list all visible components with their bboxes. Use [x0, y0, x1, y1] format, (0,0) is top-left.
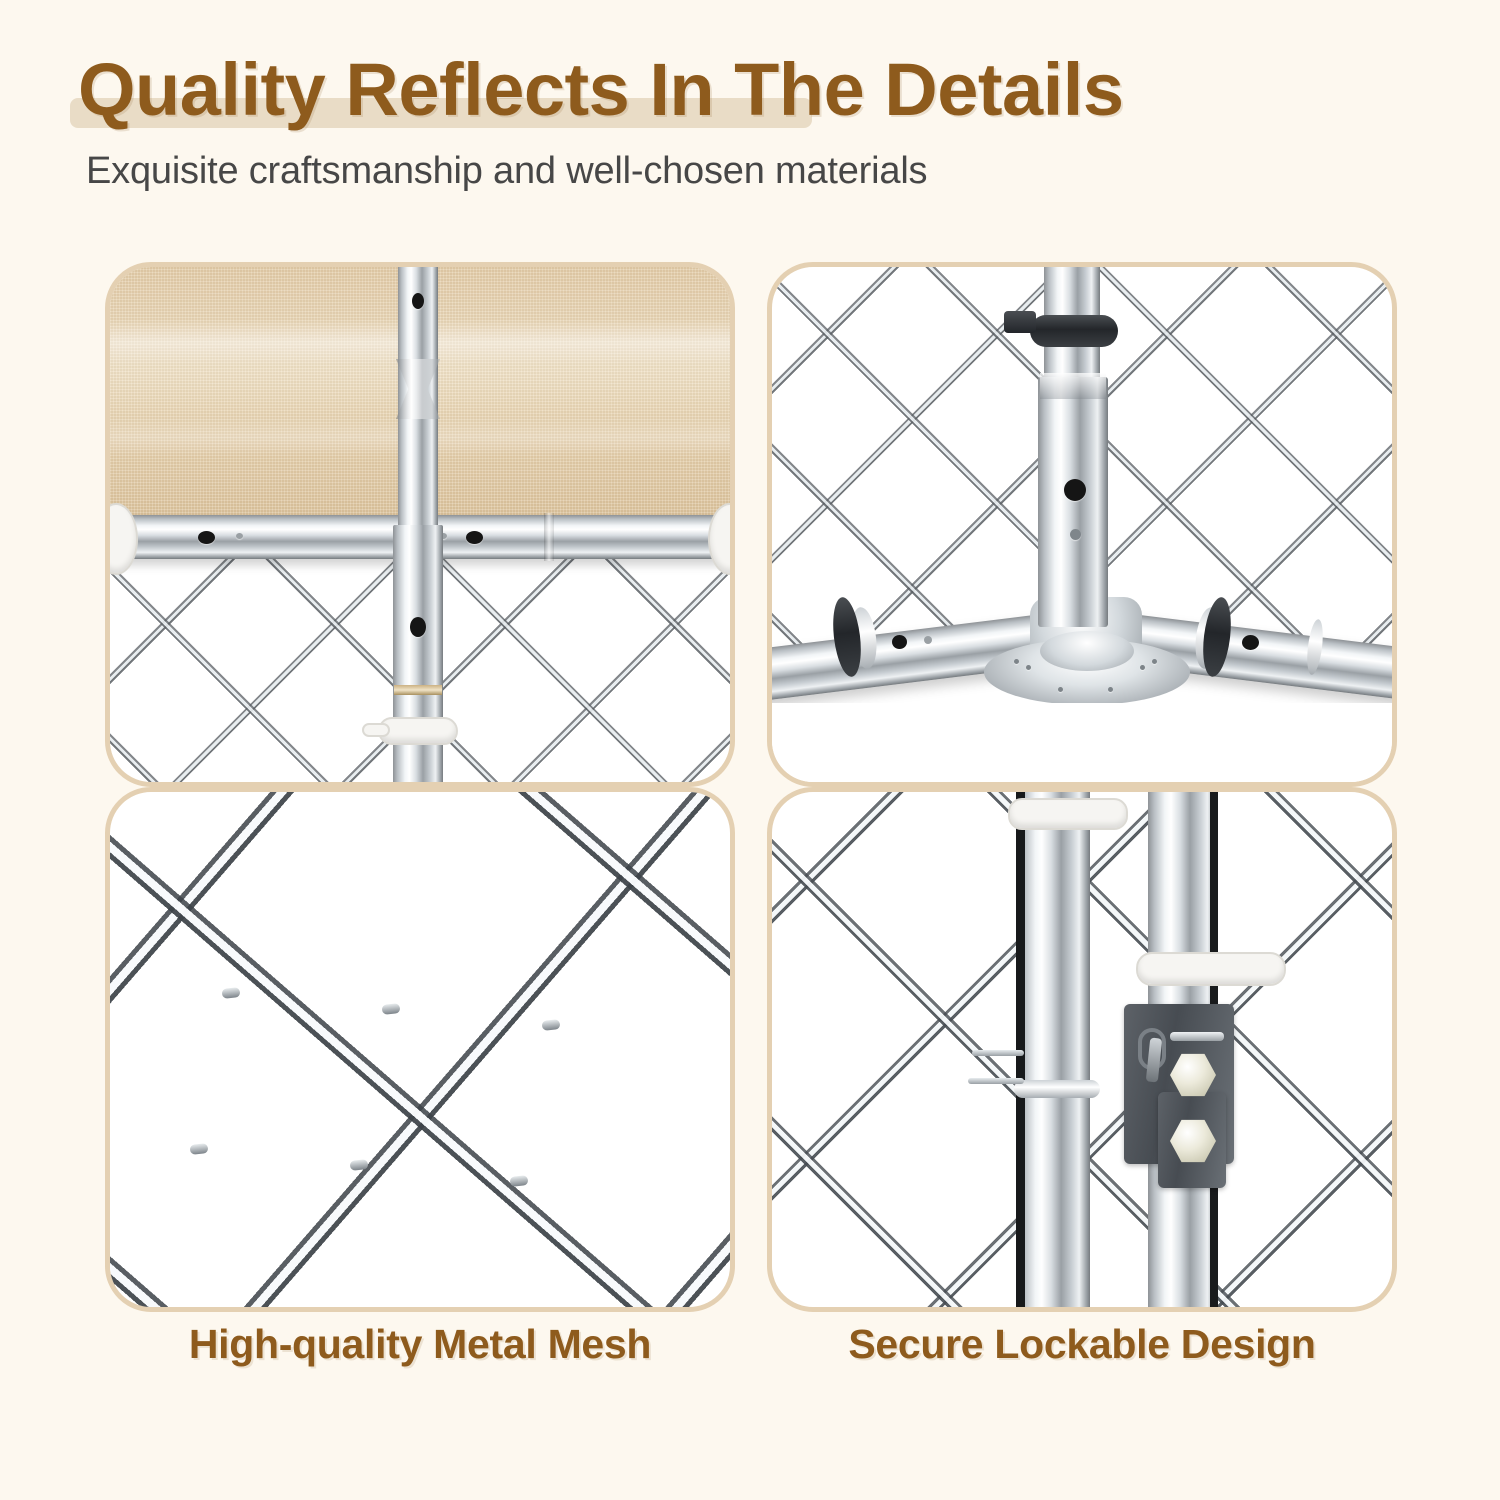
feature-photo-reinforced-metal-base — [767, 262, 1397, 787]
feature-photo-sturdy-structure — [105, 262, 735, 787]
pole-swage — [1040, 373, 1106, 399]
feature-grid: Sturdy Structure — [105, 262, 1397, 1462]
rail-seam — [544, 513, 554, 561]
left-pole-band — [1014, 1080, 1100, 1098]
post-clip-tab — [362, 723, 390, 737]
flange-bolt-hole-2 — [1026, 665, 1031, 670]
rail-hole-right — [466, 531, 483, 544]
tube-left-hole-small — [924, 636, 932, 644]
post-top-hole — [412, 293, 424, 309]
left-pole — [1018, 792, 1090, 1307]
feature-caption-secure-lockable-design: Secure Lockable Design — [767, 1312, 1397, 1377]
post-ferrule — [394, 685, 442, 695]
mid-plastic-clip — [1136, 952, 1286, 986]
pole-hole-large — [1064, 479, 1086, 501]
page-title-wrap: Quality Reflects In The Details — [78, 44, 1438, 136]
page-title: Quality Reflects In The Details — [78, 44, 1438, 136]
flange-bolt-hole-3 — [1152, 659, 1157, 664]
tube-left-hole — [892, 635, 907, 649]
flange-bolt-hole-1 — [1014, 659, 1019, 664]
feature-card-sturdy-structure: Sturdy Structure — [105, 262, 735, 787]
top-plastic-clip — [1008, 798, 1128, 830]
pole-hole-small — [1070, 529, 1081, 540]
feature-card-high-quality-metal-mesh: High-quality Metal Mesh — [105, 787, 735, 852]
flange-bolt-hole-5 — [1058, 687, 1063, 692]
page-subtitle: Exquisite craftsmanship and well-chosen … — [86, 150, 927, 193]
vertical-pole-main — [1038, 377, 1108, 627]
post-plastic-clip — [378, 717, 458, 745]
latch-slot — [1170, 1032, 1224, 1041]
feature-card-secure-lockable-design: Secure Lockable Design — [767, 787, 1397, 852]
pole-black-clip — [1030, 315, 1118, 347]
header: Quality Reflects In The Details Exquisit… — [0, 0, 1500, 230]
wire-mesh-closeup — [110, 792, 730, 1307]
base-flange-hub — [1040, 631, 1134, 671]
flange-bolt-hole-6 — [1108, 687, 1113, 692]
flange-bolt-hole-4 — [1140, 665, 1145, 670]
latch-tab-lower — [968, 1078, 1024, 1084]
rail-hole-left — [198, 531, 215, 544]
feature-photo-high-quality-metal-mesh — [105, 787, 735, 1312]
pole-black-clip-tab — [1004, 311, 1036, 333]
photo-floor — [772, 703, 1392, 782]
rail-hole-left-small — [236, 533, 243, 539]
post-hole — [410, 617, 426, 637]
latch-tab-upper — [972, 1050, 1024, 1056]
feature-photo-secure-lockable-design — [767, 787, 1397, 1312]
feature-caption-high-quality-metal-mesh: High-quality Metal Mesh — [105, 1312, 735, 1377]
tube-right-hole — [1242, 635, 1259, 650]
feature-card-reinforced-metal-base: Reinforced Metal Base — [767, 262, 1397, 787]
